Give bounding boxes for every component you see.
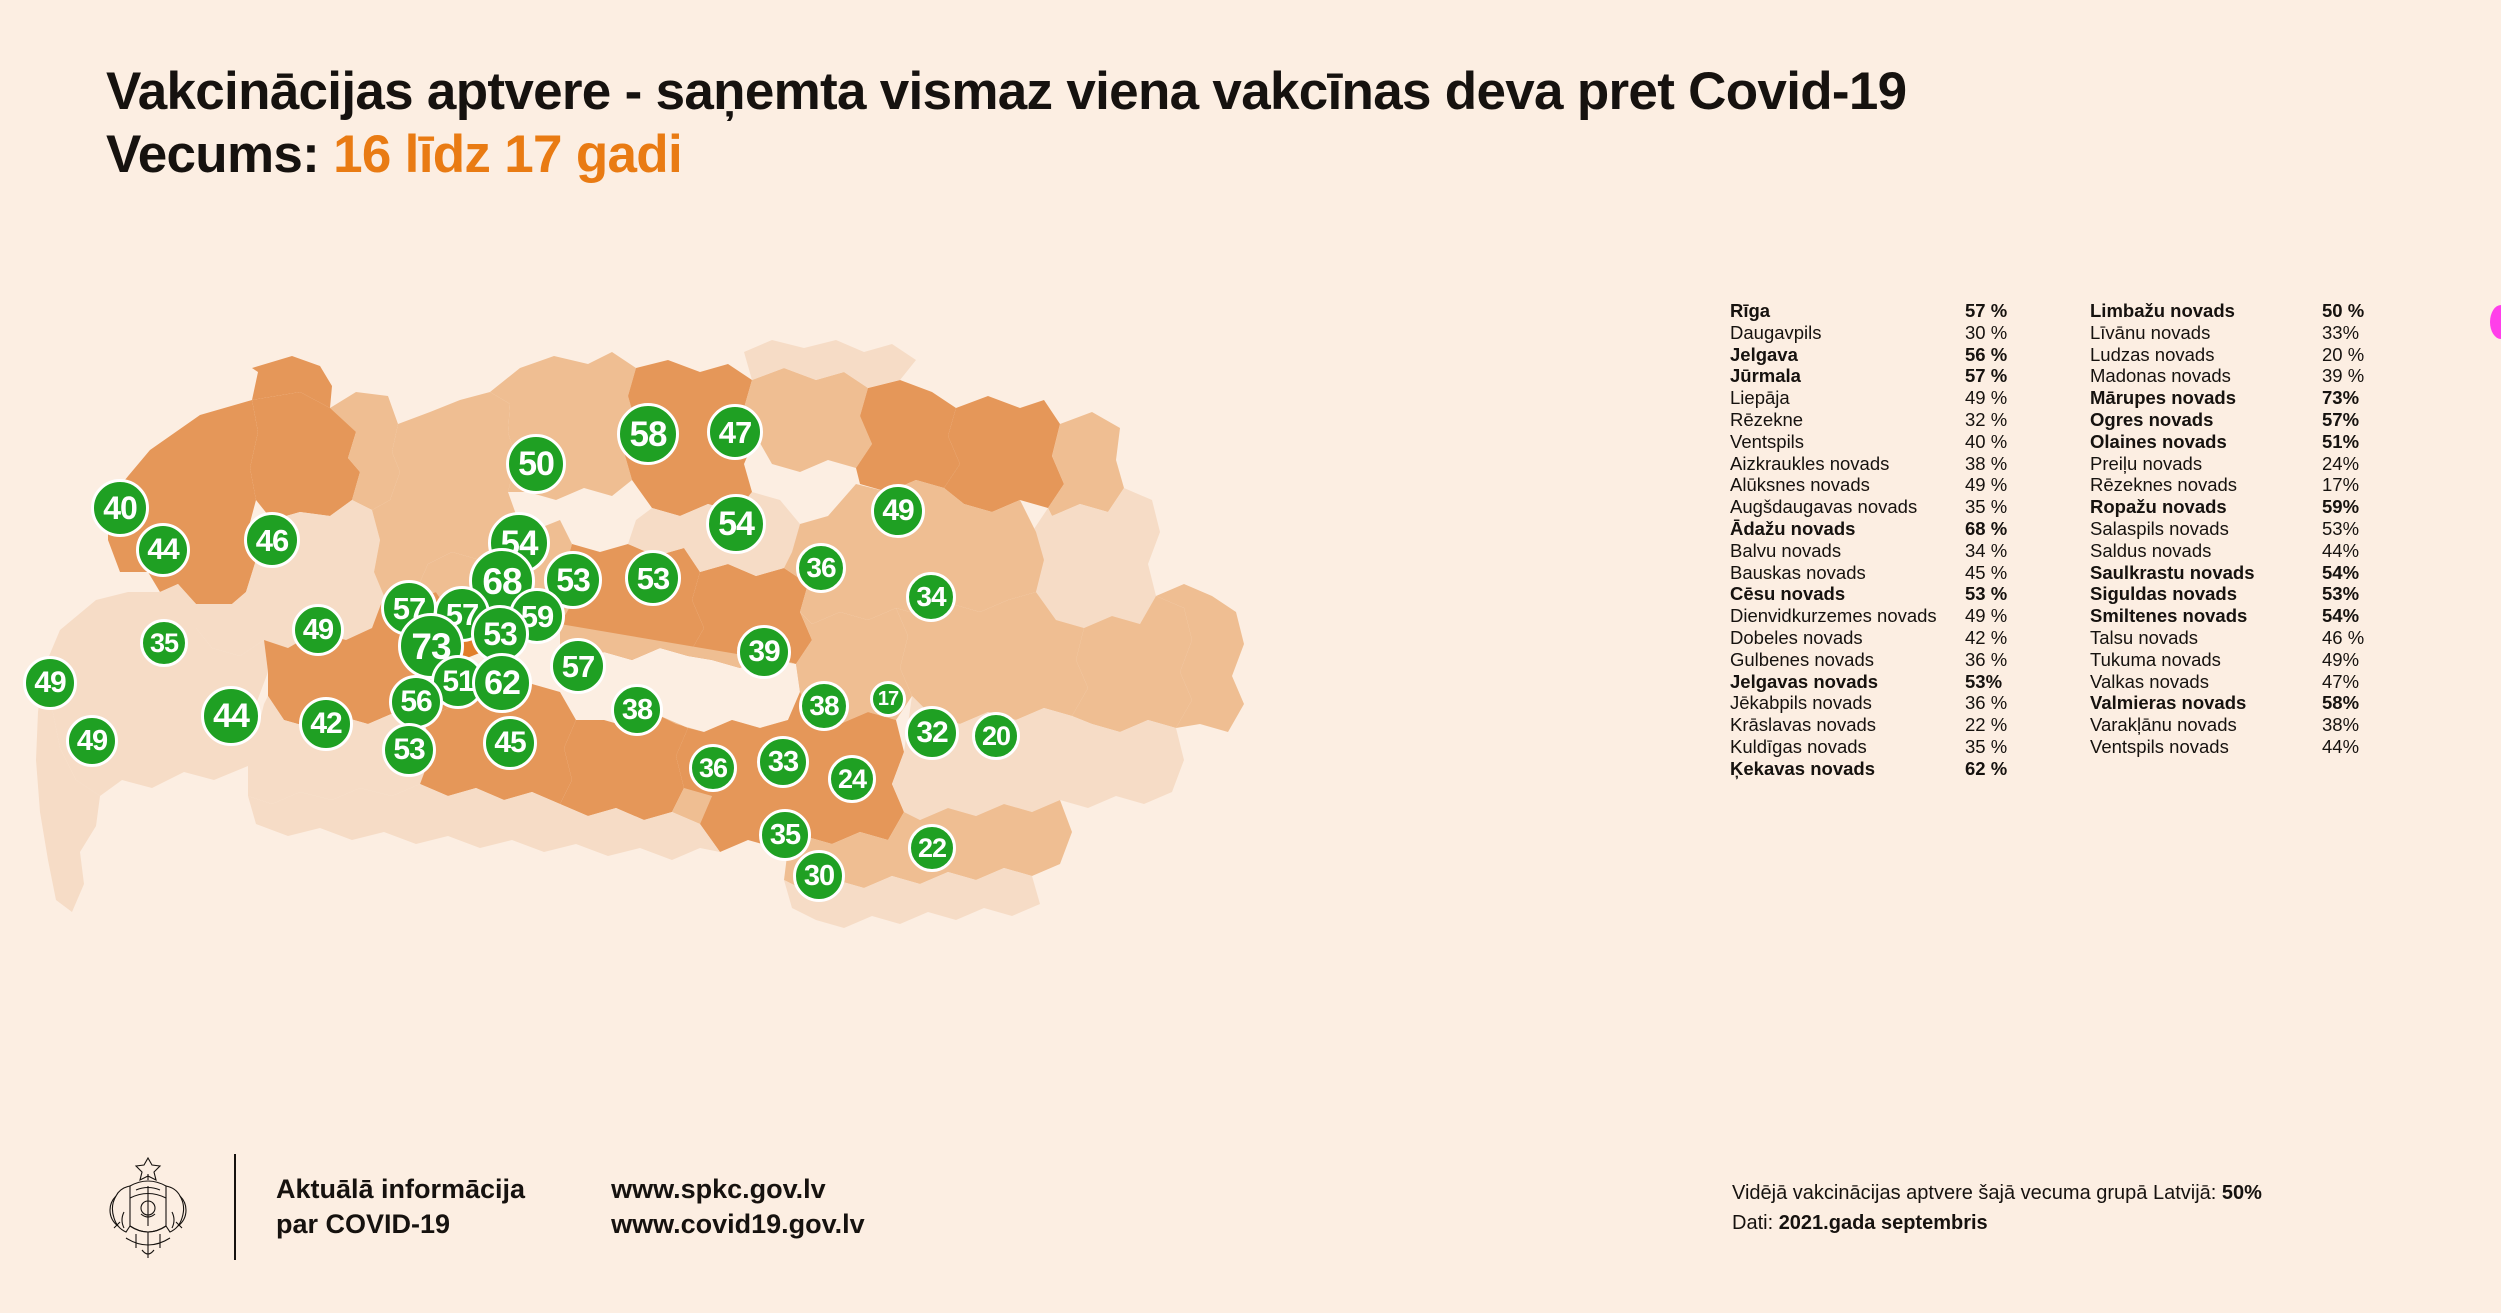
- table-row: Jelgava56 %: [1730, 344, 2090, 366]
- region-percentage: 45 %: [1965, 562, 2007, 584]
- region-percentage: 38 %: [1965, 453, 2007, 475]
- region-name: Kuldīgas novads: [1730, 736, 1965, 758]
- map-value-bubble: 57: [550, 638, 606, 694]
- region-name: Preiļu novads: [2090, 453, 2322, 475]
- region-percentage: 24%: [2322, 453, 2359, 475]
- map-value-bubble: 49: [23, 656, 77, 710]
- data-date-label: Dati:: [1732, 1212, 1779, 1234]
- map-value-bubble: 38: [799, 681, 849, 731]
- latvia-map: 4044463549494442495058475468535757597353…: [0, 200, 1700, 1160]
- map-value-bubble: 32: [905, 706, 959, 760]
- table-row: Daugavpils30 %: [1730, 322, 2090, 344]
- region-percentage: 53%: [1965, 671, 2002, 693]
- region-name: Dienvidkurzemes novads: [1730, 605, 1965, 627]
- region-percentage: 50 %: [2322, 300, 2364, 322]
- region-valkas: [744, 368, 872, 472]
- table-row: Ventspils novads44%: [2090, 736, 2450, 758]
- region-percentage: 33%: [2322, 322, 2359, 344]
- region-name: Limbažu novads: [2090, 300, 2322, 322]
- region-percentage: 22 %: [1965, 714, 2007, 736]
- table-row: Ludzas novads20 %: [2090, 344, 2450, 366]
- table-row: Limbažu novads50 %: [2090, 300, 2450, 322]
- region-percentage: 53%: [2322, 518, 2359, 540]
- region-percentage: 30 %: [1965, 322, 2007, 344]
- page-title: Vakcinācijas aptvere - saņemta vismaz vi…: [106, 62, 2426, 121]
- table-row: Rēzekne32 %: [1730, 409, 2090, 431]
- age-group-line: Vecums:16 līdz 17 gadi: [106, 125, 2426, 184]
- region-percentage: 56 %: [1965, 344, 2007, 366]
- region-percentage: 17%: [2322, 474, 2359, 496]
- table-row: Varakļānu novads38%: [2090, 714, 2450, 736]
- region-name: Krāslavas novads: [1730, 714, 1965, 736]
- region-name: Rēzekne: [1730, 409, 1965, 431]
- map-value-bubble: 20: [972, 712, 1020, 760]
- region-name: Salaspils novads: [2090, 518, 2322, 540]
- table-row: Kuldīgas novads35 %: [1730, 736, 2090, 758]
- table-row: Ventspils40 %: [1730, 431, 2090, 453]
- map-value-bubble: 50: [506, 434, 566, 494]
- region-percentage: 68 %: [1965, 518, 2007, 540]
- region-name: Ķekavas novads: [1730, 758, 1965, 780]
- region-name: Ventspils novads: [2090, 736, 2322, 758]
- region-percentage: 49 %: [1965, 605, 2007, 627]
- region-percentage: 46 %: [2322, 627, 2364, 649]
- age-value: 16 līdz 17 gadi: [333, 125, 682, 184]
- map-value-bubble: 58: [617, 403, 679, 465]
- region-name: Alūksnes novads: [1730, 474, 1965, 496]
- map-value-bubble: 39: [737, 625, 791, 679]
- region-name: Gulbenes novads: [1730, 649, 1965, 671]
- table-row: Valmieras novads58%: [2090, 692, 2450, 714]
- table-column-right: Limbažu novads50 %Līvānu novads33%Ludzas…: [2090, 300, 2450, 758]
- map-value-bubble: 36: [796, 543, 846, 593]
- region-percentage: 49 %: [1965, 474, 2007, 496]
- region-percentage: 47%: [2322, 671, 2359, 693]
- table-row: Mārupes novads73%: [2090, 387, 2450, 409]
- table-row: Liepāja49 %: [1730, 387, 2090, 409]
- footer-left: Aktuālā informācija par COVID-19 www.spk…: [100, 1152, 865, 1262]
- region-name: Augšdaugavas novads: [1730, 496, 1965, 518]
- map-value-bubble: 54: [706, 494, 766, 554]
- table-row: Ropažu novads59%: [2090, 496, 2450, 518]
- table-row: Ādažu novads68 %: [1730, 518, 2090, 540]
- edge-arc-decoration: [2490, 305, 2501, 339]
- region-name: Madonas novads: [2090, 365, 2322, 387]
- region-name: Daugavpils: [1730, 322, 1965, 344]
- region-percentage: 32 %: [1965, 409, 2007, 431]
- region-percentage: 54%: [2322, 605, 2359, 627]
- table-row: Siguldas novads53%: [2090, 583, 2450, 605]
- map-value-bubble: 22: [908, 824, 956, 872]
- region-name: Jelgava: [1730, 344, 1965, 366]
- table-row: Smiltenes novads54%: [2090, 605, 2450, 627]
- region-percentage: 39 %: [2322, 365, 2364, 387]
- table-row: Dienvidkurzemes novads49 %: [1730, 605, 2090, 627]
- data-date-value: 2021.gada septembris: [1779, 1212, 1988, 1234]
- region-percentage: 49 %: [1965, 387, 2007, 409]
- table-row: Salaspils novads53%: [2090, 518, 2450, 540]
- region-name: Jūrmala: [1730, 365, 1965, 387]
- region-percentage: 44%: [2322, 540, 2359, 562]
- region-name: Cēsu novads: [1730, 583, 1965, 605]
- table-row: Bauskas novads45 %: [1730, 562, 2090, 584]
- table-row: Rēzeknes novads17%: [2090, 474, 2450, 496]
- map-value-bubble: 45: [483, 716, 537, 770]
- map-value-bubble: 53: [382, 723, 436, 777]
- map-value-bubble: 42: [299, 697, 353, 751]
- map-value-bubble: 49: [66, 715, 118, 767]
- footer-urls: www.spkc.gov.lv www.covid19.gov.lv: [611, 1172, 865, 1241]
- footer-info-line2: par COVID-19: [276, 1207, 525, 1242]
- region-name: Balvu novads: [1730, 540, 1965, 562]
- region-name: Ādažu novads: [1730, 518, 1965, 540]
- table-row: Saulkrastu novads54%: [2090, 562, 2450, 584]
- table-column-left: Rīga57 %Daugavpils30 %Jelgava56 %Jūrmala…: [1730, 300, 2090, 780]
- map-value-bubble: 62: [472, 653, 532, 713]
- title-block: Vakcinācijas aptvere - saņemta vismaz vi…: [106, 62, 2426, 185]
- region-name: Tukuma novads: [2090, 649, 2322, 671]
- table-row: Tukuma novads49%: [2090, 649, 2450, 671]
- map-value-bubble: 33: [757, 736, 809, 788]
- region-percentage: 44%: [2322, 736, 2359, 758]
- data-date-line: Dati: 2021.gada septembris: [1732, 1208, 2262, 1238]
- region-percentage: 35 %: [1965, 496, 2007, 518]
- table-row: Ogres novads57%: [2090, 409, 2450, 431]
- region-name: Saldus novads: [2090, 540, 2322, 562]
- map-value-bubble: 46: [244, 512, 300, 568]
- age-label: Vecums:: [106, 125, 319, 184]
- footer-right: Vidējā vakcinācijas aptvere šajā vecuma …: [1732, 1178, 2262, 1238]
- region-name: Jēkabpils novads: [1730, 692, 1965, 714]
- region-name: Liepāja: [1730, 387, 1965, 409]
- region-name: Aizkraukles novads: [1730, 453, 1965, 475]
- average-coverage-label: Vidējā vakcinācijas aptvere šajā vecuma …: [1732, 1182, 2222, 1204]
- region-name: Siguldas novads: [2090, 583, 2322, 605]
- table-row: Ķekavas novads62 %: [1730, 758, 2090, 780]
- region-name: Olaines novads: [2090, 431, 2322, 453]
- region-name: Ventspils: [1730, 431, 1965, 453]
- map-value-bubble: 34: [906, 572, 956, 622]
- region-percentage: 49%: [2322, 649, 2359, 671]
- map-value-bubble: 49: [292, 604, 344, 656]
- region-percentage: 51%: [2322, 431, 2359, 453]
- table-row: Madonas novads39 %: [2090, 365, 2450, 387]
- table-row: Līvānu novads33%: [2090, 322, 2450, 344]
- map-value-bubble: 36: [689, 744, 737, 792]
- table-row: Preiļu novads24%: [2090, 453, 2450, 475]
- map-value-bubble: 49: [871, 484, 925, 538]
- region-percentage: 59%: [2322, 496, 2359, 518]
- table-row: Rīga57 %: [1730, 300, 2090, 322]
- region-aluksnes: [944, 396, 1064, 512]
- table-row: Talsu novads46 %: [2090, 627, 2450, 649]
- latvia-coat-of-arms-icon: [100, 1152, 196, 1262]
- region-percentage: 38%: [2322, 714, 2359, 736]
- map-value-bubble: 30: [793, 850, 845, 902]
- map-value-bubble: 44: [201, 686, 261, 746]
- map-value-bubble: 47: [707, 404, 763, 460]
- map-value-bubble: 24: [828, 755, 876, 803]
- table-row: Dobeles novads42 %: [1730, 627, 2090, 649]
- map-value-bubble: 38: [611, 684, 663, 736]
- region-name: Saulkrastu novads: [2090, 562, 2322, 584]
- map-value-bubble: 53: [625, 550, 681, 606]
- region-percentage: 57 %: [1965, 300, 2007, 322]
- region-name: Mārupes novads: [2090, 387, 2322, 409]
- region-name: Varakļānu novads: [2090, 714, 2322, 736]
- region-name: Dobeles novads: [1730, 627, 1965, 649]
- table-row: Krāslavas novads22 %: [1730, 714, 2090, 736]
- region-percentage: 20 %: [2322, 344, 2364, 366]
- region-name: Talsu novads: [2090, 627, 2322, 649]
- table-row: Augšdaugavas novads35 %: [1730, 496, 2090, 518]
- region-name: Ogres novads: [2090, 409, 2322, 431]
- region-percentage: 57%: [2322, 409, 2359, 431]
- footer-info-line1: Aktuālā informācija: [276, 1172, 525, 1207]
- table-row: Jūrmala57 %: [1730, 365, 2090, 387]
- map-value-bubble: 44: [136, 523, 190, 577]
- region-name: Ludzas novads: [2090, 344, 2322, 366]
- url-spkc[interactable]: www.spkc.gov.lv: [611, 1172, 865, 1207]
- average-coverage-value: 50%: [2222, 1182, 2262, 1204]
- region-name: Valkas novads: [2090, 671, 2322, 693]
- region-percentage: 57 %: [1965, 365, 2007, 387]
- region-percentage: 62 %: [1965, 758, 2007, 780]
- region-percentage: 53%: [2322, 583, 2359, 605]
- map-value-bubble: 35: [140, 619, 188, 667]
- map-value-bubble: 56: [389, 675, 443, 729]
- region-percentage: 58%: [2322, 692, 2359, 714]
- map-value-bubble: 17: [870, 681, 906, 717]
- map-value-bubble: 40: [91, 479, 149, 537]
- table-row: Valkas novads47%: [2090, 671, 2450, 693]
- region-percentage: 35 %: [1965, 736, 2007, 758]
- table-row: Saldus novads44%: [2090, 540, 2450, 562]
- table-row: Balvu novads34 %: [1730, 540, 2090, 562]
- region-name: Ropažu novads: [2090, 496, 2322, 518]
- region-percentage: 36 %: [1965, 649, 2007, 671]
- average-coverage-line: Vidējā vakcinācijas aptvere šajā vecuma …: [1732, 1178, 2262, 1208]
- region-name: Rēzeknes novads: [2090, 474, 2322, 496]
- region-smiltenes: [856, 380, 960, 492]
- region-name: Līvānu novads: [2090, 322, 2322, 344]
- region-name: Rīga: [1730, 300, 1965, 322]
- region-percentage: 40 %: [1965, 431, 2007, 453]
- url-covid19[interactable]: www.covid19.gov.lv: [611, 1207, 865, 1242]
- table-row: Jēkabpils novads36 %: [1730, 692, 2090, 714]
- region-percentage: 34 %: [1965, 540, 2007, 562]
- map-value-bubble: 35: [759, 809, 811, 861]
- table-row: Cēsu novads53 %: [1730, 583, 2090, 605]
- footer-info-text: Aktuālā informācija par COVID-19: [276, 1172, 525, 1241]
- region-balvu: [1048, 412, 1124, 516]
- region-name: Bauskas novads: [1730, 562, 1965, 584]
- table-row: Gulbenes novads36 %: [1730, 649, 2090, 671]
- map-shapes: [0, 200, 1700, 1160]
- region-percentage: 42 %: [1965, 627, 2007, 649]
- infographic-root: Vakcinācijas aptvere - saņemta vismaz vi…: [0, 0, 2501, 1313]
- table-row: Jelgavas novads53%: [1730, 671, 2090, 693]
- footer-divider: [234, 1154, 236, 1260]
- table-row: Olaines novads51%: [2090, 431, 2450, 453]
- region-percentage: 54%: [2322, 562, 2359, 584]
- region-name: Jelgavas novads: [1730, 671, 1965, 693]
- region-percentage: 73%: [2322, 387, 2359, 409]
- region-percentage: 53 %: [1965, 583, 2007, 605]
- table-row: Aizkraukles novads38 %: [1730, 453, 2090, 475]
- table-row: Alūksnes novads49 %: [1730, 474, 2090, 496]
- region-name: Valmieras novads: [2090, 692, 2322, 714]
- region-name: Smiltenes novads: [2090, 605, 2322, 627]
- region-percentage: 36 %: [1965, 692, 2007, 714]
